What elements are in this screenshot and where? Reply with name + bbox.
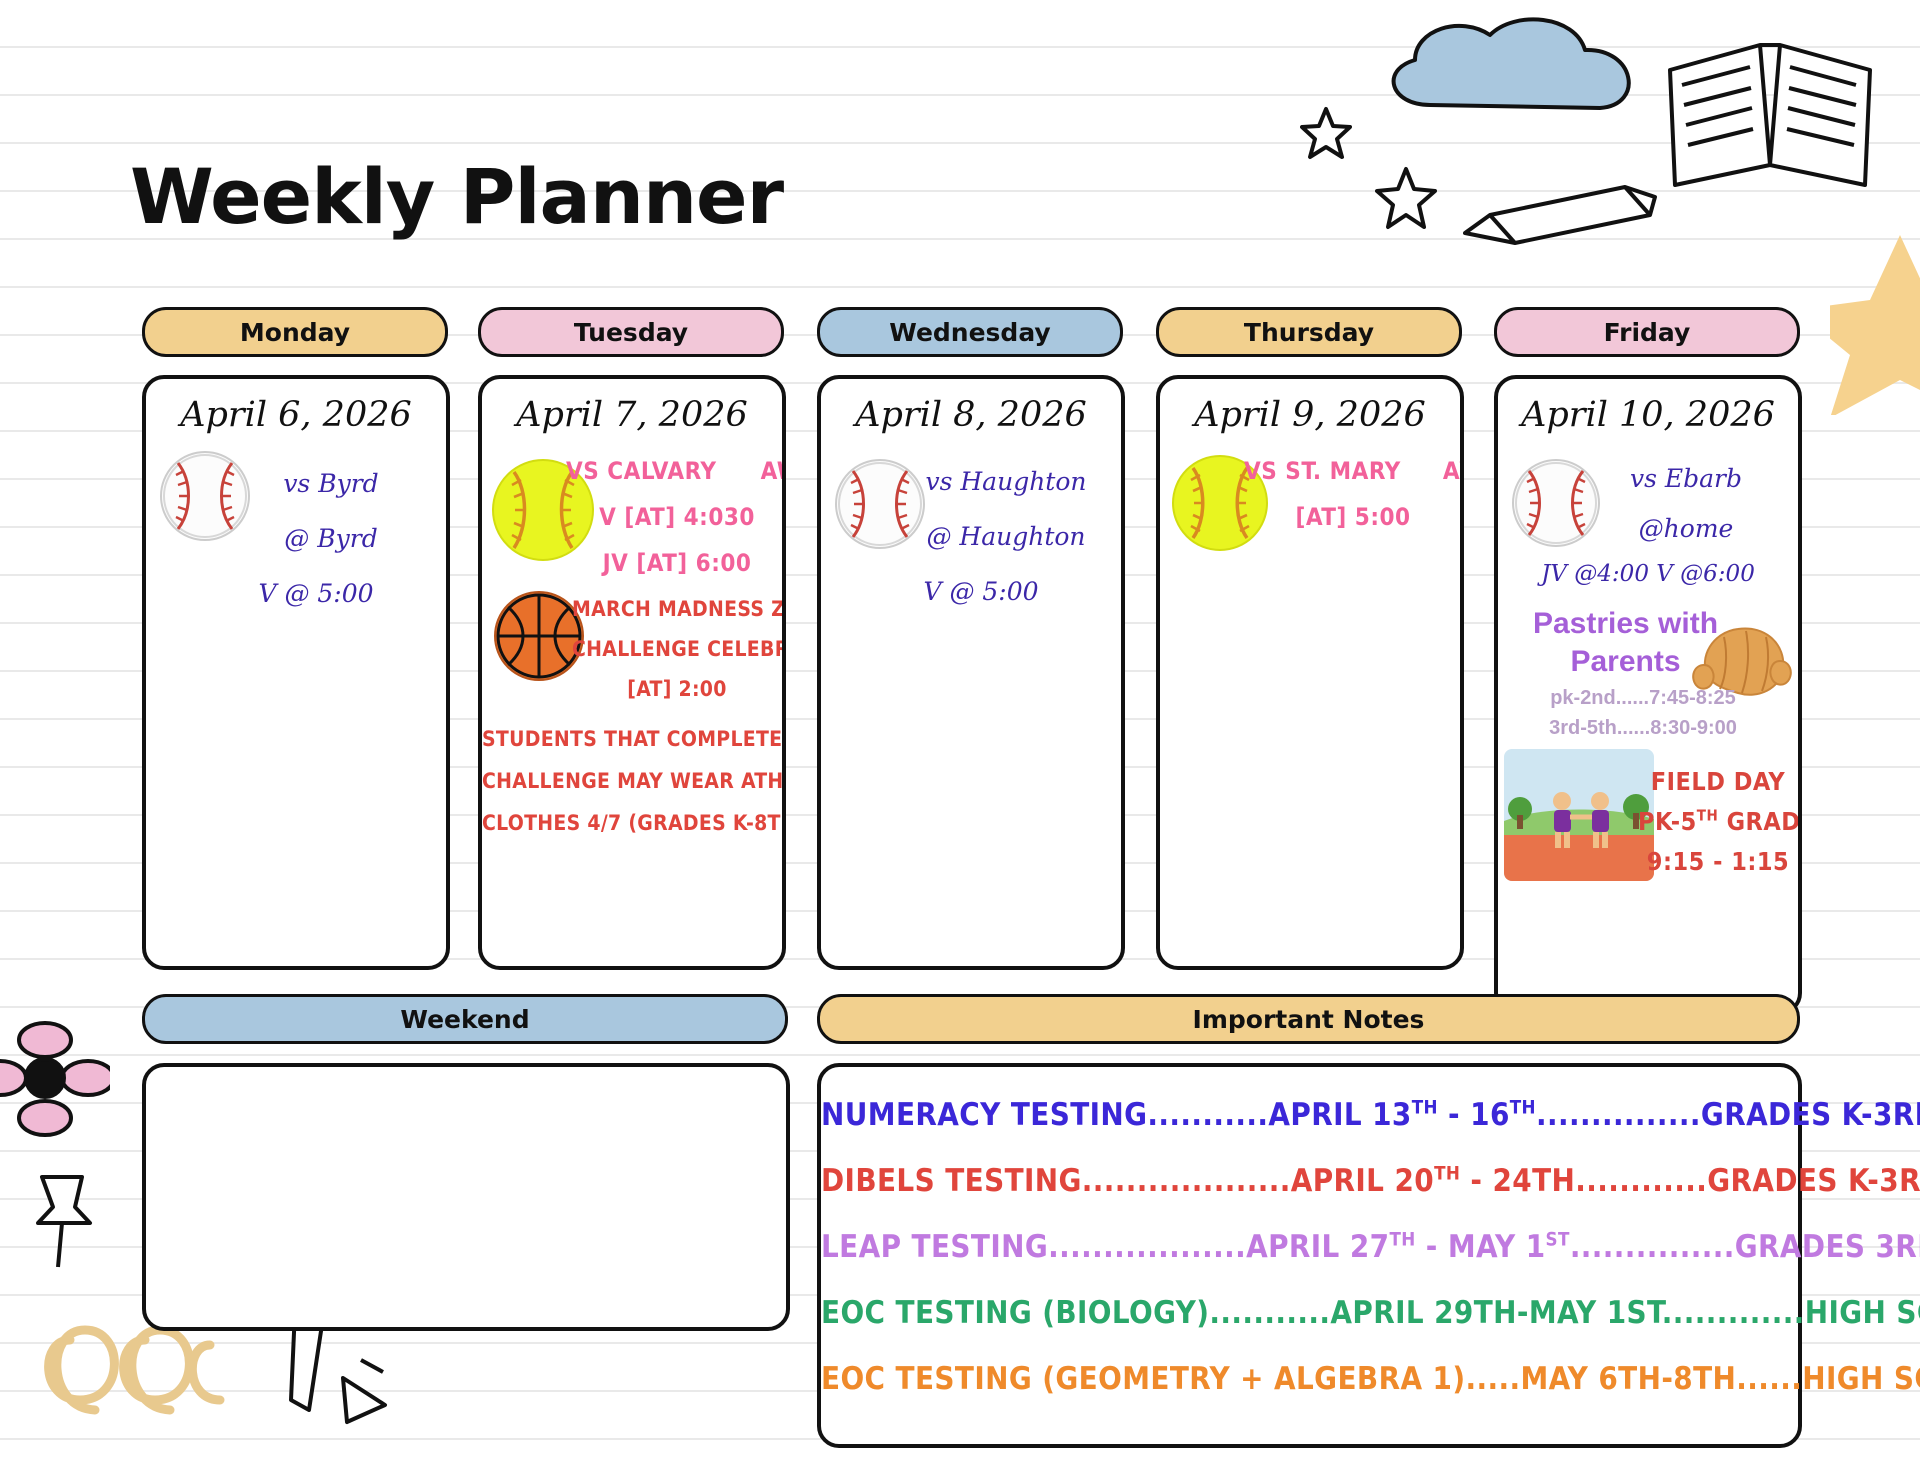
event-text: CHALLENGE MAY WEAR ATHLETIC (482, 769, 782, 793)
page-title: Weekly Planner (130, 152, 783, 241)
day-card-friday[interactable]: April 10, 2026 vs Ebarb @home JV @4:00 V… (1494, 375, 1802, 1015)
event-text: @ Haughton (891, 522, 1121, 551)
day-date-tuesday: April 7, 2026 (482, 395, 782, 435)
event-text: CLOTHES 4/7 (GRADES K-8TH) (482, 811, 782, 835)
event-text: JV [AT] 6:00 (572, 549, 782, 577)
event-location: AWAY (761, 457, 786, 485)
section-header-weekend: Weekend (142, 994, 788, 1044)
note-dates: MAY 6TH-8TH (1520, 1361, 1736, 1397)
event-text: STUDENTS THAT COMPLETED THE (482, 727, 782, 751)
event-opponent: VS ST. MARY (1244, 457, 1401, 485)
weekend-box[interactable] (142, 1063, 790, 1331)
day-header-tuesday: Tuesday (478, 307, 784, 357)
event-text: 9:15 - 1:15 (1638, 847, 1798, 876)
day-header-label: Thursday (1244, 318, 1374, 347)
day-header-friday: Friday (1494, 307, 1800, 357)
note-dots: ..... (1465, 1361, 1520, 1397)
event-location: AWAY (1443, 457, 1464, 485)
day-header-monday: Monday (142, 307, 448, 357)
note-grades: GRADES K-3RD (1707, 1163, 1920, 1199)
day-card-monday[interactable]: April 6, 2026 vs Byrd @ Byrd V @ 5:00 (142, 375, 450, 970)
event-text: [AT] 5:00 (1246, 503, 1460, 531)
event-text: @home (1574, 514, 1798, 543)
weekend-content[interactable] (146, 1067, 786, 1095)
event-text: PK-5TH GRADE (1638, 807, 1798, 836)
day-header-label: Monday (240, 318, 350, 347)
note-dates: APRIL 20TH - 24TH (1291, 1163, 1576, 1199)
event-text: MARCH MADNESS ZEARN (572, 597, 782, 621)
note-label: DIBELS TESTING (821, 1163, 1082, 1199)
note-row: EOC TESTING (BIOLOGY)...........APRIL 29… (821, 1295, 1798, 1331)
event-text: 3rd-5th......8:30-9:00 (1494, 717, 1798, 740)
event-text: VS CALVARY AWAY (566, 457, 782, 485)
event-text: [AT] 2:00 (572, 677, 782, 701)
note-dots: ............... (1570, 1229, 1735, 1265)
event-text: V @ 5:00 (186, 579, 446, 608)
note-dates: APRIL 27TH - MAY 1ST (1246, 1229, 1570, 1265)
event-text: VS ST. MARY AWAY (1244, 457, 1460, 485)
day-card-thursday[interactable]: April 9, 2026 VS ST. MARY AWAY [AT] 5:00 (1156, 375, 1464, 970)
section-header-important-notes: Important Notes (817, 994, 1800, 1044)
day-header-label: Tuesday (574, 318, 688, 347)
open-book-doodle (1650, 15, 1890, 205)
note-grades: GRADES K-3RD (1701, 1097, 1920, 1133)
day-date-monday: April 6, 2026 (146, 395, 446, 435)
note-dots: ........... (1147, 1097, 1268, 1133)
day-date-wednesday: April 8, 2026 (821, 395, 1121, 435)
event-text: vs Byrd (216, 469, 446, 498)
day-date-thursday: April 9, 2026 (1160, 395, 1460, 435)
event-text: pk-2nd......7:45-8:25 (1494, 687, 1798, 710)
event-text: vs Ebarb (1574, 464, 1798, 493)
pushpin-doodle (20, 1165, 110, 1275)
note-dots: ........... (1209, 1295, 1330, 1331)
event-text: vs Haughton (891, 467, 1121, 496)
note-grades: HIGH SCHOOL (1802, 1361, 1920, 1397)
event-text: JV @4:00 V @6:00 (1498, 561, 1798, 587)
yellow-star-doodle (1830, 230, 1920, 415)
note-grades: GRADES 3RD-8TH (1735, 1229, 1920, 1265)
note-dots: ............ (1575, 1163, 1707, 1199)
day-card-tuesday[interactable]: April 7, 2026 VS CALVARY AWAY V [AT] 4:0… (478, 375, 786, 970)
star-doodle-large (1375, 165, 1437, 231)
event-text: V [AT] 4:030 (572, 503, 782, 531)
star-doodle-small (1300, 105, 1352, 161)
note-row: LEAP TESTING..................APRIL 27TH… (821, 1229, 1798, 1265)
pen-doodle (1455, 175, 1670, 250)
note-dates: APRIL 13TH - 16TH (1268, 1097, 1536, 1133)
note-label: LEAP TESTING (821, 1229, 1048, 1265)
event-text: V @ 5:00 (841, 577, 1121, 606)
basketball-icon (494, 591, 584, 681)
note-label: EOC TESTING (BIOLOGY) (821, 1295, 1209, 1331)
note-row: EOC TESTING (GEOMETRY + ALGEBRA 1).....M… (821, 1361, 1798, 1397)
note-label: EOC TESTING (GEOMETRY + ALGEBRA 1) (821, 1361, 1465, 1397)
note-label: NUMERACY TESTING (821, 1097, 1147, 1133)
weekend-label: Weekend (400, 1005, 529, 1034)
event-text: @ Byrd (216, 524, 446, 553)
day-header-label: Wednesday (889, 318, 1050, 347)
day-header-label: Friday (1604, 318, 1691, 347)
cloud-doodle (1370, 10, 1660, 135)
note-dots: ...... (1736, 1361, 1802, 1397)
note-grades: HIGH SCHOOL (1805, 1295, 1920, 1331)
event-opponent: VS CALVARY (566, 457, 717, 485)
day-date-friday: April 10, 2026 (1498, 395, 1798, 435)
field-day-icon (1504, 749, 1654, 881)
day-header-wednesday: Wednesday (817, 307, 1123, 357)
note-dates: APRIL 29TH-MAY 1ST (1330, 1295, 1661, 1331)
day-card-wednesday[interactable]: April 8, 2026 vs Haughton @ Haughton V @… (817, 375, 1125, 970)
note-dots: ............. (1662, 1295, 1805, 1331)
day-header-thursday: Thursday (1156, 307, 1462, 357)
note-row: DIBELS TESTING...................APRIL 2… (821, 1163, 1798, 1199)
note-row: NUMERACY TESTING...........APRIL 13TH - … (821, 1097, 1798, 1133)
event-text: FIELD DAY (1638, 767, 1798, 796)
note-dots: ................... (1082, 1163, 1291, 1199)
field-day-grades: PK-5TH GRADE (1638, 807, 1802, 836)
important-notes-label: Important Notes (1193, 1005, 1425, 1034)
note-dots: ............... (1536, 1097, 1701, 1133)
important-notes-box[interactable]: NUMERACY TESTING...........APRIL 13TH - … (817, 1063, 1802, 1448)
event-text: CHALLENGE CELEBRATION (572, 637, 782, 661)
note-dots: .................. (1048, 1229, 1246, 1265)
flower-doodle (0, 1020, 110, 1140)
